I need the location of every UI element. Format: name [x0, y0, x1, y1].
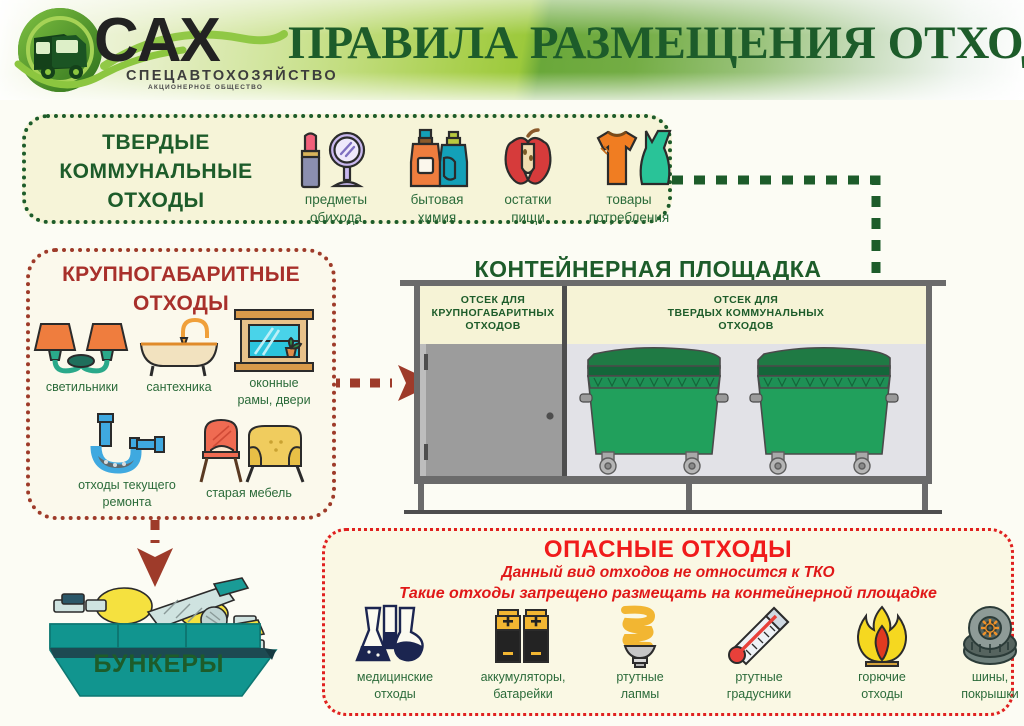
haz-item-caption: горючие: [830, 670, 934, 685]
sign-left-line2: КРУПНОГАБАРИТНЫХ: [424, 307, 562, 320]
tko-title-line3: ОТХОДЫ: [36, 186, 276, 215]
tko-item-household-chemicals: бытовая химия: [394, 128, 480, 226]
haz-item-tires: шины, покрышки: [938, 606, 1024, 702]
haz-item-mercury-thermometers: ртутные градусники: [696, 606, 822, 702]
kgo-item-lamps: светильники: [32, 320, 132, 395]
haz-item-batteries: аккумуляторы, батарейки: [462, 606, 584, 702]
haz-item-caption2: покрышки: [938, 687, 1024, 702]
infographic-page: CAX СПЕЦАВТОХОЗЯЙСТВО АКЦИОНЕРНОЕ ОБЩЕСТ…: [0, 0, 1024, 726]
haz-item-caption2: градусники: [696, 687, 822, 702]
flask-icon: [356, 606, 434, 668]
bunker-label: БУНКЕРЫ: [28, 650, 290, 679]
kgo-section: КРУПНОГАБАРИТНЫЕ ОТХОДЫ све: [26, 248, 336, 520]
kgo-item-plumbing: сантехника: [130, 316, 228, 395]
tire-icon: [958, 606, 1022, 668]
sign-right-line1: ОТСЕК ДЛЯ: [570, 294, 922, 307]
tko-title-line2: КОММУНАЛЬНЫЕ: [36, 157, 276, 186]
kgo-item-caption: светильники: [32, 380, 132, 395]
battery-icon: [492, 606, 554, 668]
tko-item-caption2: химия: [394, 210, 480, 226]
lipstick-mirror-icon: [292, 128, 380, 190]
kgo-title-line1: КРУПНОГАБАРИТНЫЕ: [26, 260, 336, 289]
tko-title-line1: ТВЕРДЫЕ: [36, 128, 276, 157]
sign-left-line3: ОТХОДОВ: [424, 320, 562, 333]
haz-item-medical-waste: медицинские отходы: [336, 606, 454, 702]
haz-item-caption2: лапмы: [590, 687, 690, 702]
wall-lamp-icon: [35, 320, 129, 378]
tko-item-household-goods: предметы обихода: [290, 128, 382, 226]
window-frame-icon: [231, 308, 317, 374]
tko-item-caption2: обихода: [290, 210, 382, 226]
haz-item-caption: ртутные: [590, 670, 690, 685]
tko-item-caption: предметы: [290, 192, 382, 208]
kgo-item-repair-waste: отходы текущего ремонта: [64, 414, 190, 510]
haz-item-mercury-lamps: ртутные лапмы: [590, 606, 690, 702]
sign-right-line3: ОТХОДОВ: [570, 320, 922, 333]
tko-item-caption2: пищи: [488, 210, 568, 226]
thermometer-icon: [724, 606, 794, 668]
apple-core-icon: [492, 128, 564, 190]
sign-right-line2: ТВЕРДЫХ КОММУНАЛЬНЫХ: [570, 307, 922, 320]
kgo-item-caption2: ремонта: [64, 495, 190, 510]
bathtub-icon: [133, 316, 225, 378]
hazardous-title: ОПАСНЫЕ ОТХОДЫ: [322, 536, 1014, 564]
fluorescent-lamp-icon: [611, 606, 669, 668]
container-platform: ОТСЕК ДЛЯ КРУПНОГАБАРИТНЫХ ОТХОДОВ ОТСЕК…: [398, 258, 948, 518]
haz-item-combustible-waste: горючие отходы: [830, 606, 934, 702]
bunker-illustration: [28, 578, 298, 703]
kgo-item-caption: старая мебель: [184, 486, 314, 501]
bunker-skip-icon: [28, 578, 298, 703]
tko-section: ТВЕРДЫЕ КОММУНАЛЬНЫЕ ОТХОДЫ: [22, 114, 672, 224]
pipe-icon: [84, 414, 170, 476]
tko-item-caption2: потребления: [574, 210, 684, 226]
old-furniture-icon: [191, 418, 307, 484]
platform-sign-left: ОТСЕК ДЛЯ КРУПНОГАБАРИТНЫХ ОТХОДОВ: [424, 294, 562, 333]
haz-item-caption: аккумуляторы,: [462, 670, 584, 685]
kgo-item-caption2: рамы, двери: [224, 393, 324, 408]
kgo-item-caption: отходы текущего: [64, 478, 190, 493]
kgo-item-old-furniture: старая мебель: [184, 418, 314, 501]
hazardous-subtitle-2: Такие отходы запрещено размещать на конт…: [322, 585, 1014, 603]
flame-icon: [852, 606, 912, 668]
haz-item-caption: ртутные: [696, 670, 822, 685]
platform-sign-right: ОТСЕК ДЛЯ ТВЕРДЫХ КОММУНАЛЬНЫХ ОТХОДОВ: [570, 294, 922, 333]
hazardous-waste-section: ОПАСНЫЕ ОТХОДЫ Данный вид отходов не отн…: [322, 528, 1014, 716]
haz-item-caption2: отходы: [336, 687, 454, 702]
haz-item-caption: шины,: [938, 670, 1024, 685]
haz-item-caption2: батарейки: [462, 687, 584, 702]
tko-title: ТВЕРДЫЕ КОММУНАЛЬНЫЕ ОТХОДЫ: [36, 128, 276, 215]
haz-item-caption: медицинские: [336, 670, 454, 685]
haz-item-caption2: отходы: [830, 687, 934, 702]
kgo-item-caption: сантехника: [130, 380, 228, 395]
detergent-bottles-icon: [397, 128, 477, 190]
tko-item-caption: остатки: [488, 192, 568, 208]
hazardous-subtitle-1: Данный вид отходов не относится к ТКО: [322, 564, 1014, 582]
clothing-icon: [580, 128, 678, 190]
tko-item-consumer-goods: товары потребления: [574, 128, 684, 226]
sign-left-line1: ОТСЕК ДЛЯ: [424, 294, 562, 307]
tko-item-caption: товары: [574, 192, 684, 208]
kgo-item-windows-doors: оконные рамы, двери: [224, 308, 324, 408]
tko-item-food-waste: остатки пищи: [488, 128, 568, 226]
tko-item-caption: бытовая: [394, 192, 480, 208]
kgo-item-caption: оконные: [224, 376, 324, 391]
